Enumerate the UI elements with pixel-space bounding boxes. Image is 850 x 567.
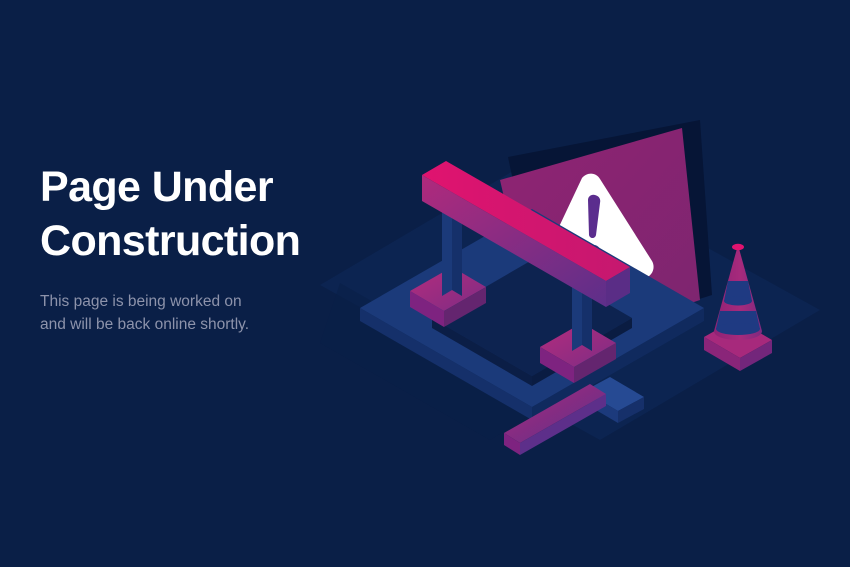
text-block: Page Under Construction This page is bei…: [40, 160, 380, 336]
page-root: Page Under Construction This page is bei…: [0, 0, 850, 567]
page-title: Page Under Construction: [40, 160, 380, 268]
under-construction-illustration: [300, 95, 840, 495]
page-subtitle: This page is being worked on and will be…: [40, 290, 380, 336]
